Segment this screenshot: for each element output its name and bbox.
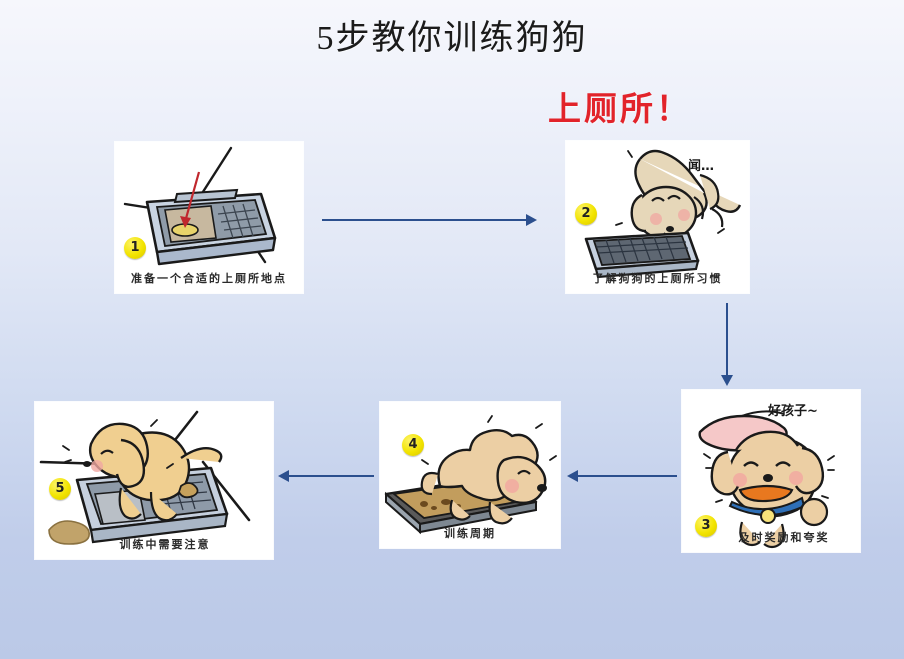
step-panel-2[interactable]: 闻… 2 了解狗狗的上厕所习惯: [566, 141, 749, 293]
step-badge-3: 3: [695, 515, 717, 537]
step-panel-1[interactable]: 1 准备一个合适的上厕所地点: [115, 142, 303, 293]
step-panel-3[interactable]: 好孩子~ 3 及时奖励和夸奖: [682, 390, 860, 552]
step-3-sfx-label: 好孩子~: [768, 400, 818, 419]
arrow-head-down-icon: [721, 375, 733, 386]
step-caption-2: 了解狗狗的上厕所习惯: [566, 270, 749, 286]
step-badge-4: 4: [402, 434, 424, 456]
arrow-head-left-icon: [567, 470, 578, 482]
arrow-shaft: [726, 303, 728, 377]
page-title: 5步教你训练狗狗: [0, 10, 904, 59]
step-panel-5[interactable]: 5 训练中需要注意: [35, 402, 273, 559]
step-badge-5: 5: [49, 478, 71, 500]
highlight-caption: 上厕所！: [548, 82, 692, 130]
arrow-shaft: [288, 475, 374, 477]
step-badge-2: 2: [575, 203, 597, 225]
step-caption-4: 训练周期: [380, 525, 560, 541]
step-panel-4[interactable]: 4 训练周期: [380, 402, 560, 548]
step-badge-1: 1: [124, 237, 146, 259]
arrow-shaft: [577, 475, 677, 477]
step-2-sfx-label: 闻…: [688, 155, 714, 174]
step-caption-5: 训练中需要注意: [35, 536, 273, 552]
step-caption-1: 准备一个合适的上厕所地点: [115, 270, 303, 286]
slide-canvas: 5步教你训练狗狗 上厕所！: [0, 0, 904, 659]
arrow-shaft: [322, 219, 528, 221]
arrow-head-left-icon: [278, 470, 289, 482]
arrow-head-right-icon: [526, 214, 537, 226]
